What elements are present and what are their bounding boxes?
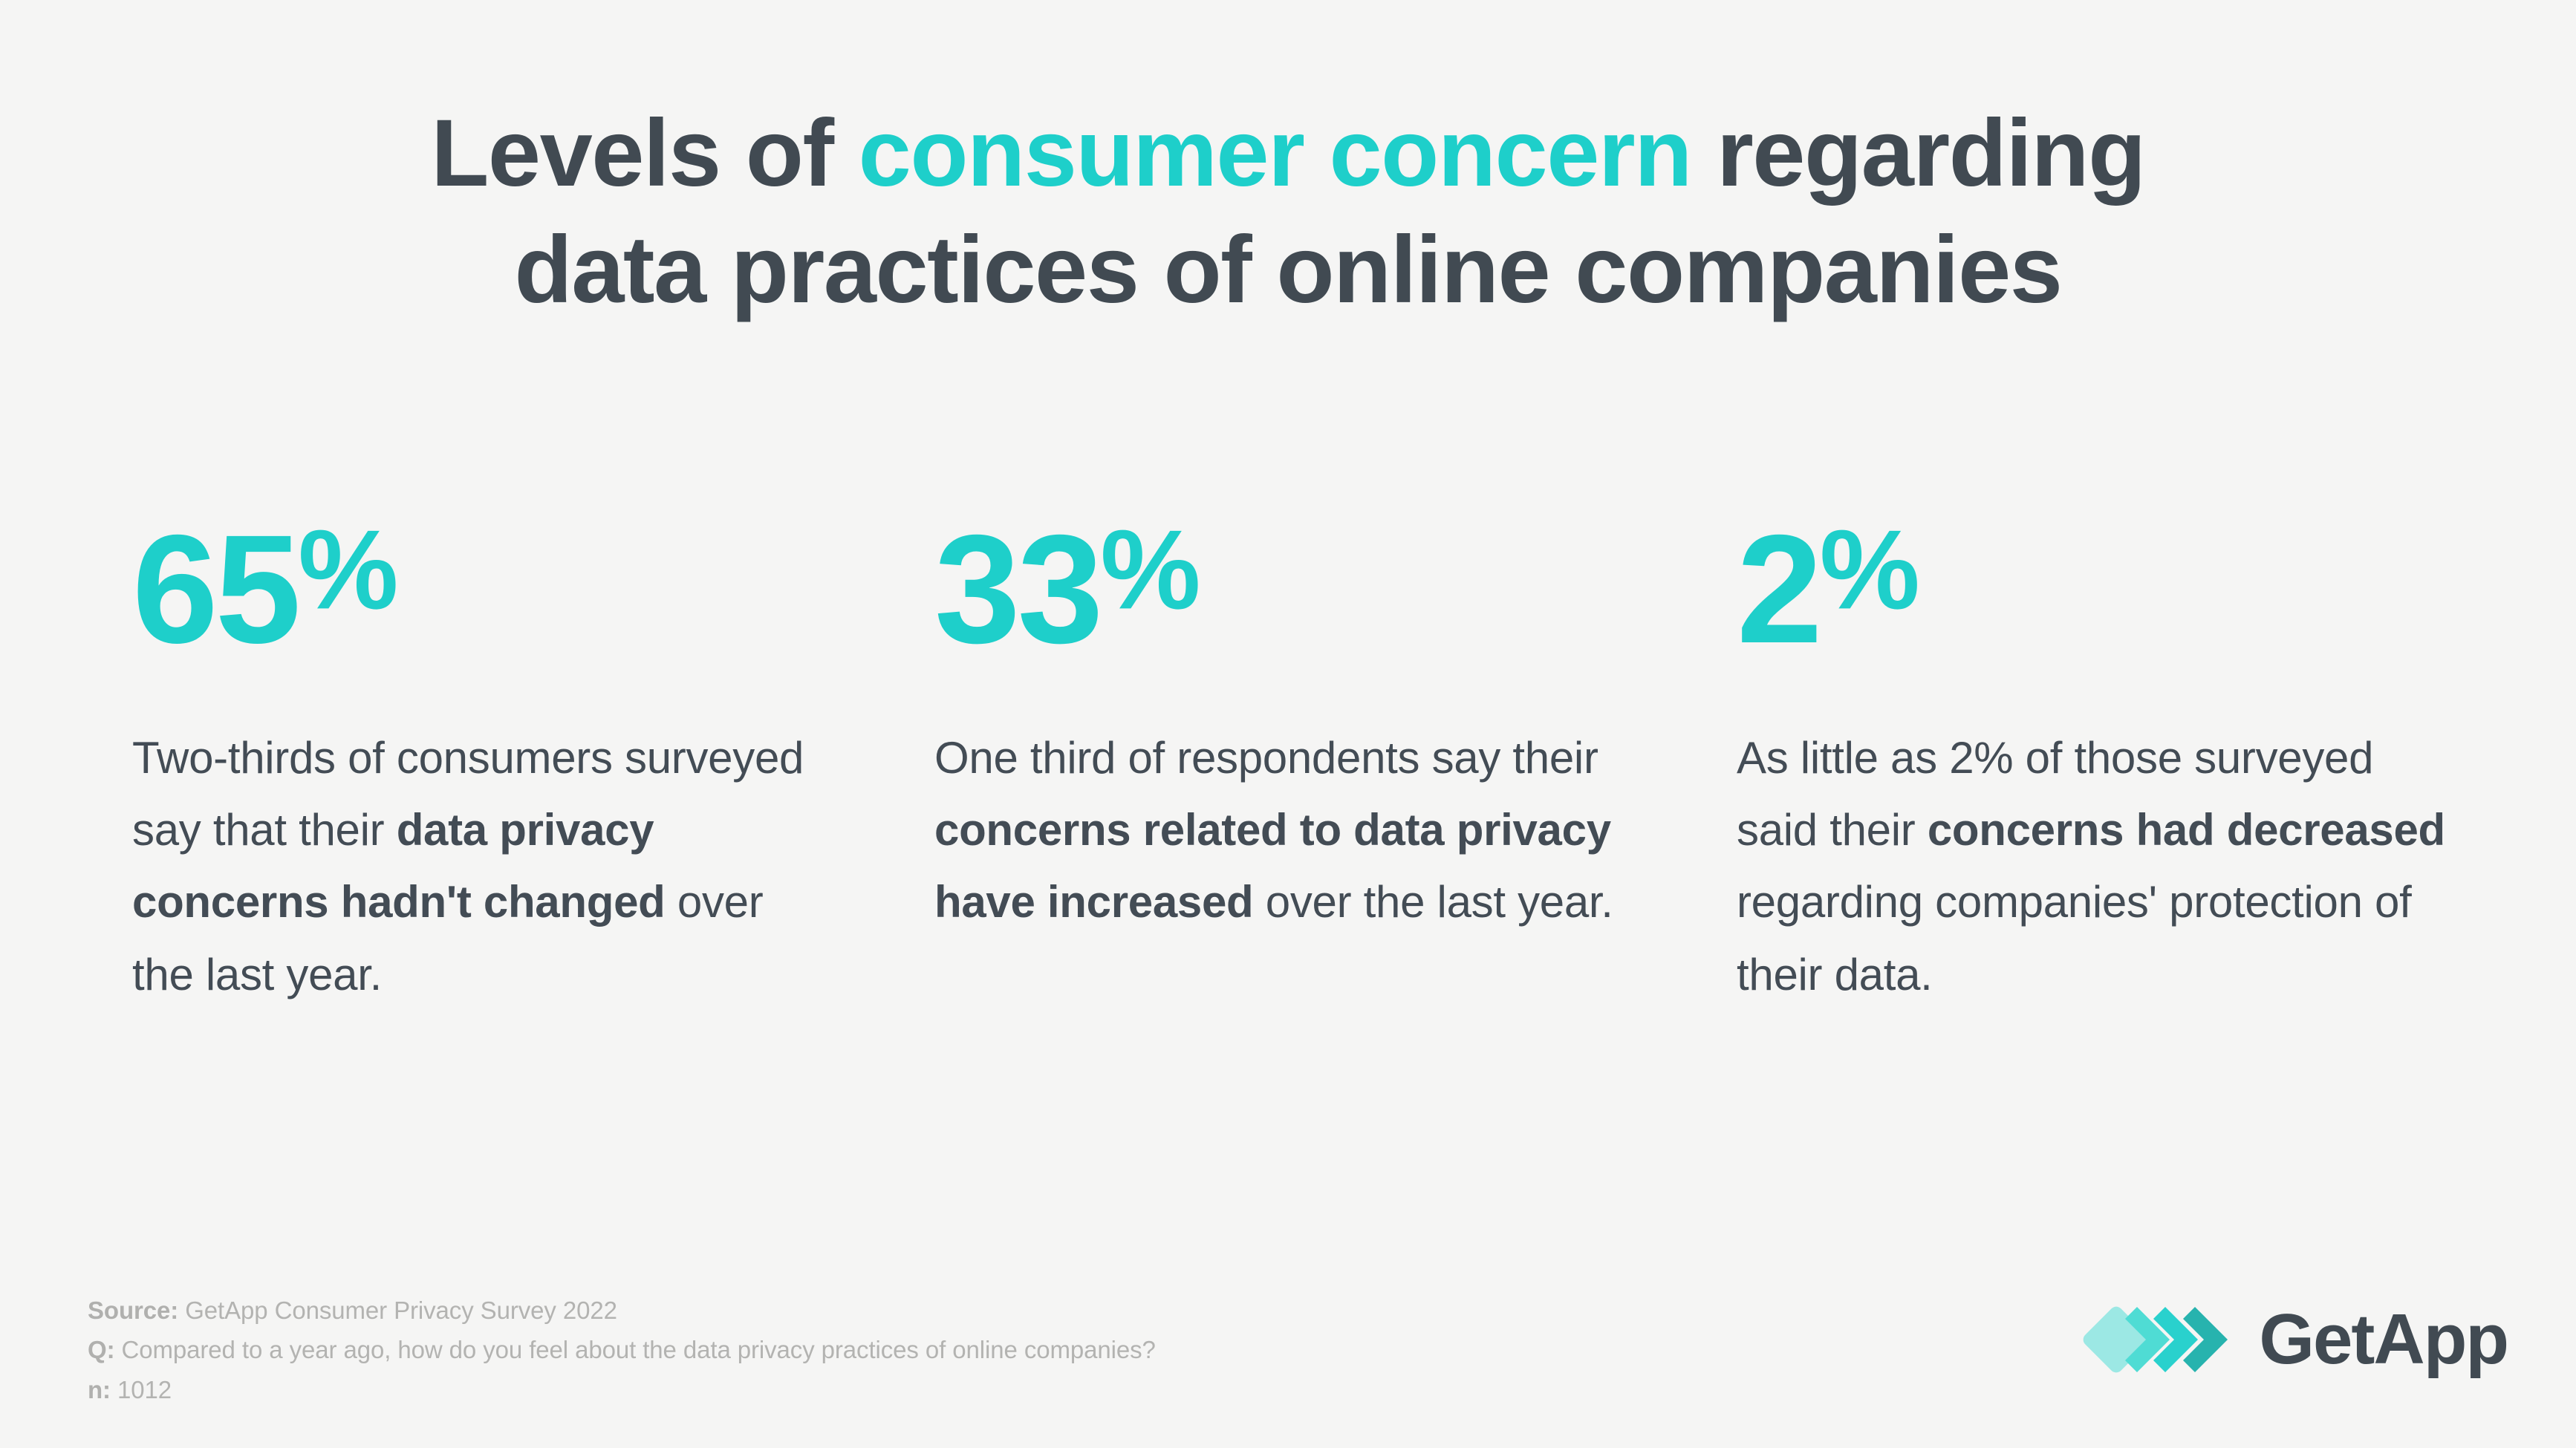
getapp-chevrons-icon — [2082, 1301, 2240, 1378]
source-line: Source: GetApp Consumer Privacy Survey 2… — [88, 1291, 1156, 1330]
percent-sign-icon: % — [1820, 506, 1918, 633]
stat-body-3-bold: concerns had decreased — [1928, 805, 2445, 855]
stats-row: 65% Two-thirds of consumers surveyed say… — [132, 512, 2465, 1011]
stat-column-1: 65% Two-thirds of consumers surveyed say… — [132, 512, 860, 1011]
question-value: Compared to a year ago, how do you feel … — [114, 1336, 1155, 1363]
sample-size-label: n: — [88, 1376, 111, 1403]
getapp-wordmark: GetApp — [2259, 1304, 2508, 1375]
percent-sign-icon: % — [1100, 506, 1198, 633]
title-line-2: data practices of online companies — [0, 212, 2576, 328]
source-footnote: Source: GetApp Consumer Privacy Survey 2… — [88, 1291, 1156, 1409]
getapp-logo[interactable]: GetApp — [2082, 1301, 2508, 1378]
stat-figure-number-3: 2 — [1737, 503, 1820, 676]
title-suffix: regarding — [1691, 100, 2145, 206]
stat-figure-1: 65% — [132, 512, 860, 668]
title-line-1: Levels of consumer concern regarding — [0, 95, 2576, 212]
percent-sign-icon: % — [298, 506, 396, 633]
sample-size-value: 1012 — [111, 1376, 172, 1403]
stat-column-3: 2% As little as 2% of those surveyed sai… — [1737, 512, 2465, 1011]
source-label: Source: — [88, 1297, 178, 1324]
stat-body-2-part2: over the last year. — [1253, 877, 1613, 927]
sample-size-line: n: 1012 — [88, 1370, 1156, 1409]
stat-body-3: As little as 2% of those surveyed said t… — [1737, 722, 2450, 1011]
stat-body-1: Two-thirds of consumers surveyed say tha… — [132, 722, 823, 1011]
title-prefix: Levels of — [431, 100, 858, 206]
title-accent: consumer concern — [859, 100, 1691, 206]
question-label: Q: — [88, 1336, 114, 1363]
stat-figure-2: 33% — [934, 512, 1662, 668]
page-title: Levels of consumer concern regarding dat… — [0, 95, 2576, 329]
stat-column-2: 33% One third of respondents say their c… — [934, 512, 1662, 939]
question-line: Q: Compared to a year ago, how do you fe… — [88, 1330, 1156, 1369]
infographic-canvas: Levels of consumer concern regarding dat… — [0, 0, 2576, 1448]
stat-figure-number-1: 65 — [132, 503, 298, 676]
stat-body-2: One third of respondents say their conce… — [934, 722, 1625, 939]
stat-figure-number-2: 33 — [934, 503, 1100, 676]
stat-figure-3: 2% — [1737, 512, 2465, 668]
stat-body-3-part2: regarding companies' protection of their… — [1737, 877, 2411, 999]
source-value: GetApp Consumer Privacy Survey 2022 — [178, 1297, 617, 1324]
stat-body-2-part1: One third of respondents say their — [934, 733, 1598, 783]
